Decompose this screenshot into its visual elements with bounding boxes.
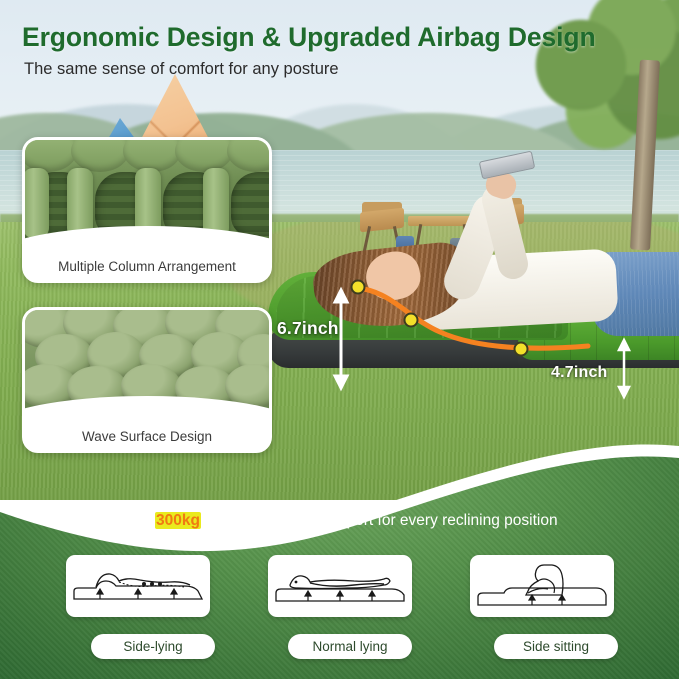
- support-highlight-weight: 300kg: [155, 512, 201, 529]
- person-sitting-icon: [470, 555, 614, 617]
- person-supine-icon: [268, 555, 412, 617]
- page-subtitle: The same sense of comfort for any postur…: [24, 60, 339, 79]
- wave-surface-image: [25, 310, 269, 414]
- product-infographic: 6.7inch 4.7inch Ergonomic Design & Upgra…: [0, 0, 679, 679]
- feature-caption-wave: Wave Surface Design: [25, 429, 269, 444]
- posture-label-side-sitting: Side sitting: [494, 634, 618, 659]
- page-title: Ergonomic Design & Upgraded Airbag Desig…: [22, 22, 596, 53]
- posture-card-side-sitting[interactable]: [470, 555, 614, 617]
- posture-label-side-lying: Side-lying: [91, 634, 215, 659]
- column-cutaway-image: [25, 140, 269, 244]
- dimension-label-foot: 4.7inch: [551, 364, 608, 382]
- posture-card-side-lying[interactable]: [66, 555, 210, 617]
- support-prefix: Max: [121, 512, 155, 529]
- posture-label-normal-lying: Normal lying: [288, 634, 412, 659]
- person-side-lying-icon: [66, 555, 210, 617]
- model-person: [330, 196, 679, 396]
- posture-card-normal-lying[interactable]: [268, 555, 412, 617]
- feature-card-columns[interactable]: Multiple Column Arrangement: [22, 137, 272, 283]
- support-suffix: support Optimal Support for every reclin…: [201, 512, 558, 529]
- support-statement: Max 300kg support Optimal Support for ev…: [0, 512, 679, 530]
- dimension-label-height: 6.7inch: [277, 318, 339, 339]
- feature-caption-columns: Multiple Column Arrangement: [25, 259, 269, 274]
- feature-card-wave[interactable]: Wave Surface Design: [22, 307, 272, 453]
